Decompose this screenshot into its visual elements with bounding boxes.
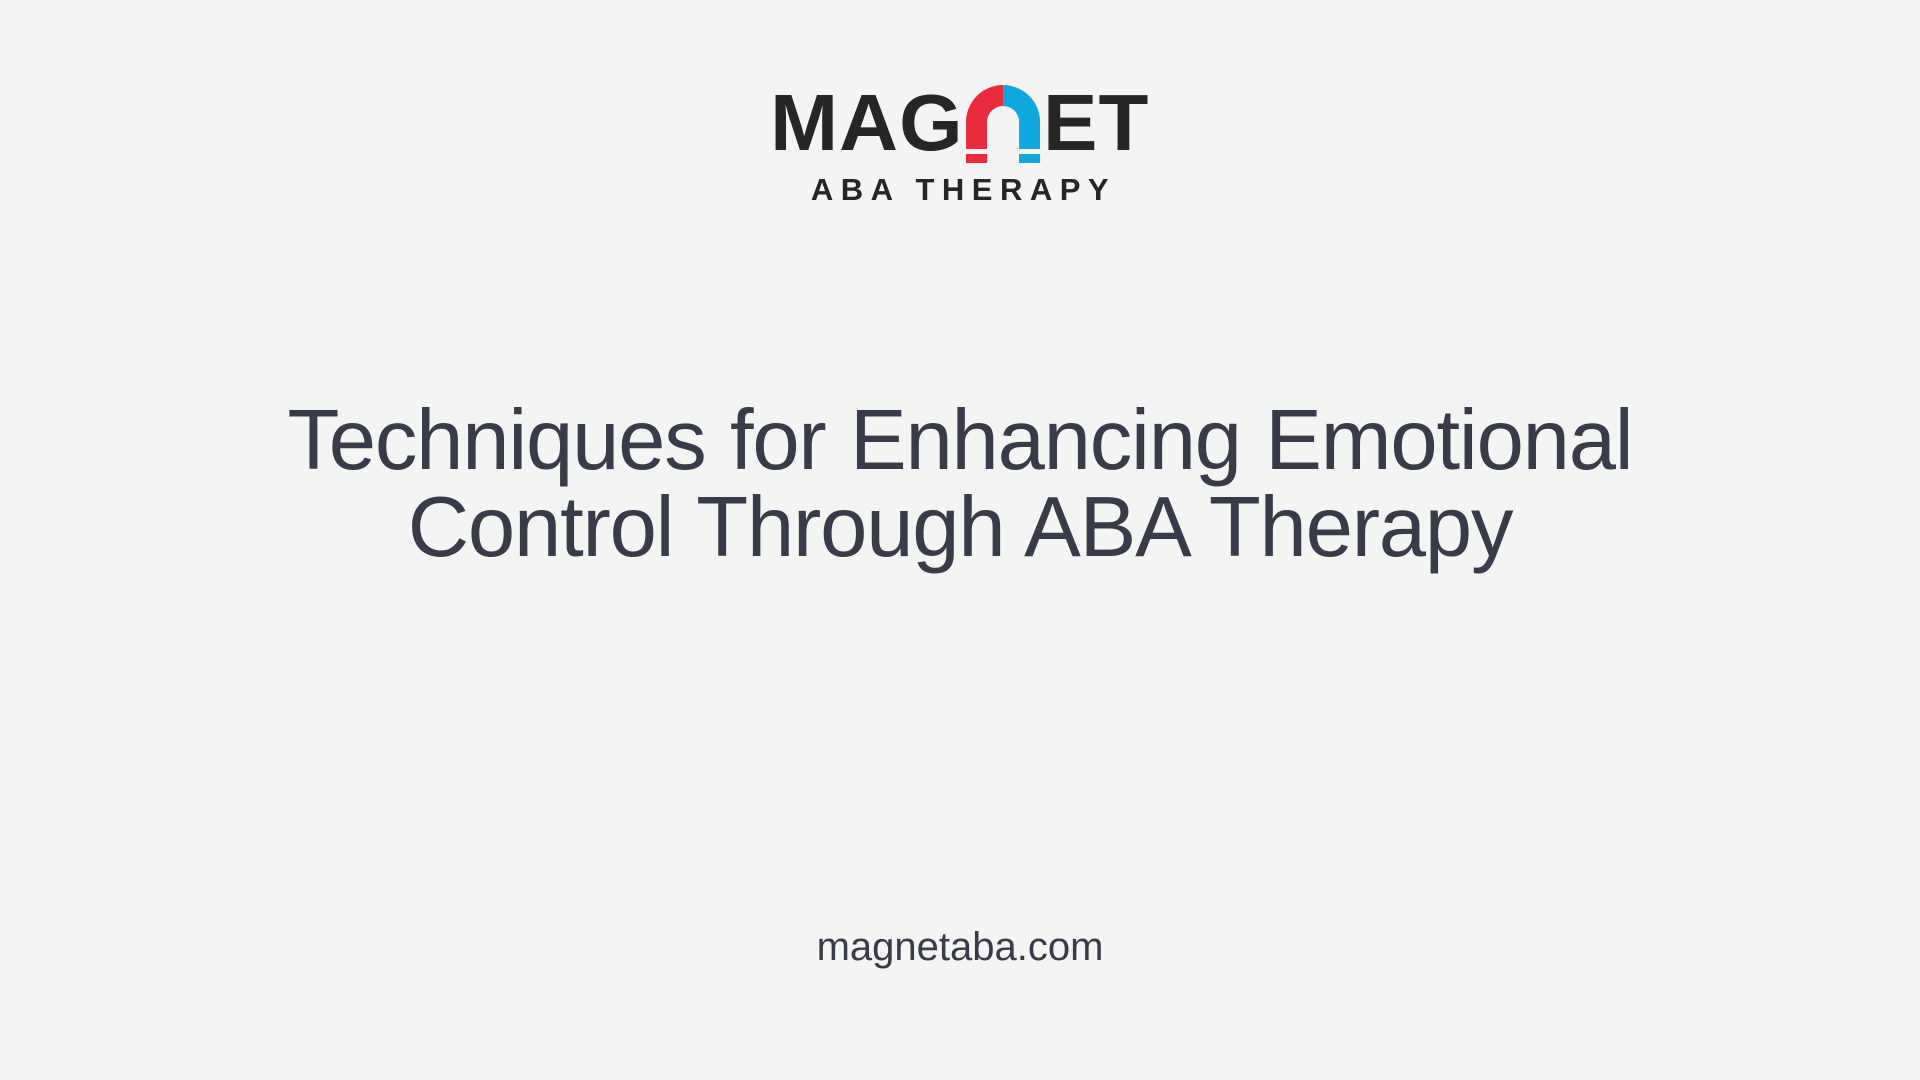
site-url[interactable]: magnetaba.com bbox=[817, 925, 1104, 970]
headline-line-1: Techniques for Enhancing bbox=[288, 393, 1241, 488]
logo-wordmark: MAG ET bbox=[772, 84, 1148, 162]
page-title: Techniques for Enhancing Emotional Contr… bbox=[180, 398, 1740, 571]
logo-tagline: ABA THERAPY bbox=[804, 172, 1116, 208]
brand-logo[interactable]: MAG ET ABA THERAPY bbox=[772, 84, 1148, 208]
logo-wordmark-right: ET bbox=[1043, 84, 1149, 162]
magnet-icon bbox=[964, 83, 1042, 163]
headline-line-3: Therapy bbox=[1209, 480, 1512, 575]
slide-canvas: MAG ET ABA THERAPY Techniques for Enh bbox=[0, 0, 1920, 1080]
logo-wordmark-left: MAG bbox=[770, 84, 963, 162]
